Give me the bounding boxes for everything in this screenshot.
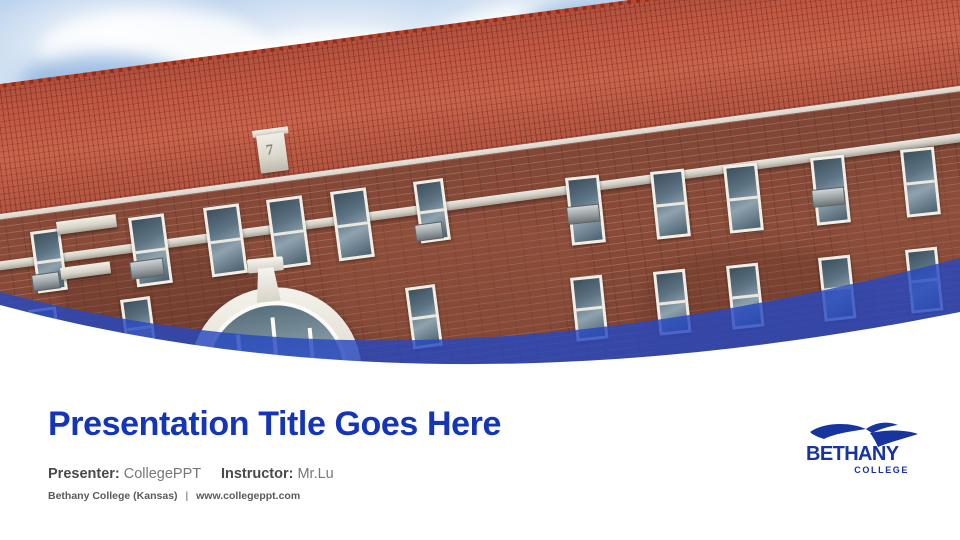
instructor-label: Instructor: <box>221 466 294 482</box>
presentation-slide: 7 <box>0 0 960 540</box>
window <box>570 275 609 342</box>
arch-mullion <box>308 328 323 372</box>
window <box>905 247 944 314</box>
window <box>723 162 764 233</box>
brick-shading <box>840 180 960 300</box>
crest-mark: 7 <box>265 142 275 160</box>
page-title: Presentation Title Goes Here <box>48 405 501 444</box>
bethany-college-logo: BETHANY COLLEGE <box>806 420 924 472</box>
title-text-block: Presentation Title Goes Here Presenter: … <box>48 405 501 502</box>
air-conditioner <box>811 187 846 208</box>
window <box>653 269 692 336</box>
swoosh-left-wing <box>810 424 866 439</box>
window <box>900 146 941 217</box>
air-conditioner <box>566 204 601 225</box>
hero-photo: 7 <box>0 0 960 372</box>
arched-entrance-window <box>182 280 364 372</box>
footer-website[interactable]: www.collegeppt.com <box>196 490 300 502</box>
instructor-value: Mr.Lu <box>297 466 333 482</box>
logo-name: BETHANY <box>806 444 916 464</box>
footer-institution: Bethany College (Kansas) <box>48 490 178 502</box>
presenter-value: CollegePPT <box>124 466 201 482</box>
logo-wordmark: BETHANY COLLEGE <box>806 444 916 475</box>
footer-separator: | <box>180 490 193 502</box>
window <box>818 255 857 322</box>
window <box>726 263 765 330</box>
window <box>650 168 691 239</box>
presenter-label: Presenter: <box>48 466 120 482</box>
footer-line: Bethany College (Kansas) | www.collegepp… <box>48 490 501 502</box>
logo-subtitle: COLLEGE <box>806 466 909 475</box>
presenter-instructor-line: Presenter: CollegePPT Instructor: Mr.Lu <box>48 466 501 482</box>
